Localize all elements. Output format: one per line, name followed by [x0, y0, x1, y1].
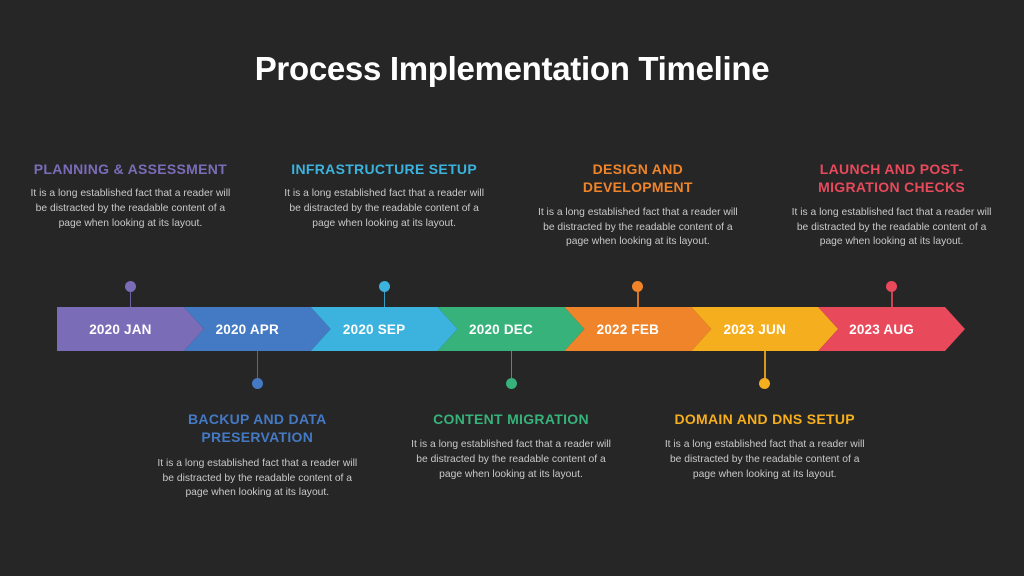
segment-date-label: 2020 JAN	[57, 307, 184, 351]
page-title: Process Implementation Timeline	[0, 50, 1024, 88]
segment-date-label: 2020 SEP	[311, 307, 438, 351]
connector-dot	[632, 281, 643, 292]
milestone-connector	[125, 281, 136, 307]
connector-dot	[125, 281, 136, 292]
segment-date-label: 2020 APR	[184, 307, 311, 351]
connector-dot	[759, 378, 770, 389]
milestone-heading: Backup and Data Preservation	[157, 410, 357, 447]
milestone-heading: Content Migration	[411, 410, 611, 428]
milestone-connector	[632, 281, 643, 307]
segment-date-label: 2023 AUG	[818, 307, 945, 351]
milestone-body-text: It is a long established fact that a rea…	[538, 206, 738, 250]
connector-dot	[379, 281, 390, 292]
connector-dot	[886, 281, 897, 292]
milestone-heading: Design and Development	[538, 160, 738, 197]
milestone-heading: Infrastructure Setup	[284, 160, 484, 178]
milestone-callout[interactable]: Design and DevelopmentIt is a long estab…	[538, 160, 738, 250]
segment-date-label: 2022 FEB	[564, 307, 691, 351]
milestone-connector	[252, 351, 263, 389]
connector-dot	[252, 378, 263, 389]
milestone-connector	[379, 281, 390, 307]
milestone-connector	[886, 281, 897, 307]
milestone-callout[interactable]: Planning & AssessmentIt is a long establ…	[30, 160, 230, 231]
milestone-body-text: It is a long established fact that a rea…	[665, 438, 865, 482]
milestone-body-text: It is a long established fact that a rea…	[30, 187, 230, 231]
milestone-callout[interactable]: Backup and Data PreservationIt is a long…	[157, 410, 357, 501]
connector-dot	[506, 378, 517, 389]
segment-date-label: 2023 JUN	[691, 307, 818, 351]
timeline-bar: 2020 JAN2020 APR2020 SEP2020 DEC2022 FEB…	[57, 307, 965, 351]
milestone-callout[interactable]: Domain and DNS SetupIt is a long establi…	[665, 410, 865, 482]
milestone-body-text: It is a long established fact that a rea…	[792, 206, 992, 250]
milestone-heading: Domain and DNS Setup	[665, 410, 865, 428]
milestone-connector	[506, 351, 517, 389]
milestone-body-text: It is a long established fact that a rea…	[284, 187, 484, 231]
milestone-heading: Launch and Post-Migration Checks	[792, 160, 992, 197]
milestone-heading: Planning & Assessment	[30, 160, 230, 178]
segment-date-label: 2020 DEC	[438, 307, 565, 351]
milestone-body-text: It is a long established fact that a rea…	[157, 457, 357, 501]
milestone-body-text: It is a long established fact that a rea…	[411, 438, 611, 482]
milestone-callout[interactable]: Launch and Post-Migration ChecksIt is a …	[792, 160, 992, 250]
milestone-connector	[759, 351, 770, 389]
milestone-callout[interactable]: Content MigrationIt is a long establishe…	[411, 410, 611, 482]
milestone-callout[interactable]: Infrastructure SetupIt is a long establi…	[284, 160, 484, 231]
